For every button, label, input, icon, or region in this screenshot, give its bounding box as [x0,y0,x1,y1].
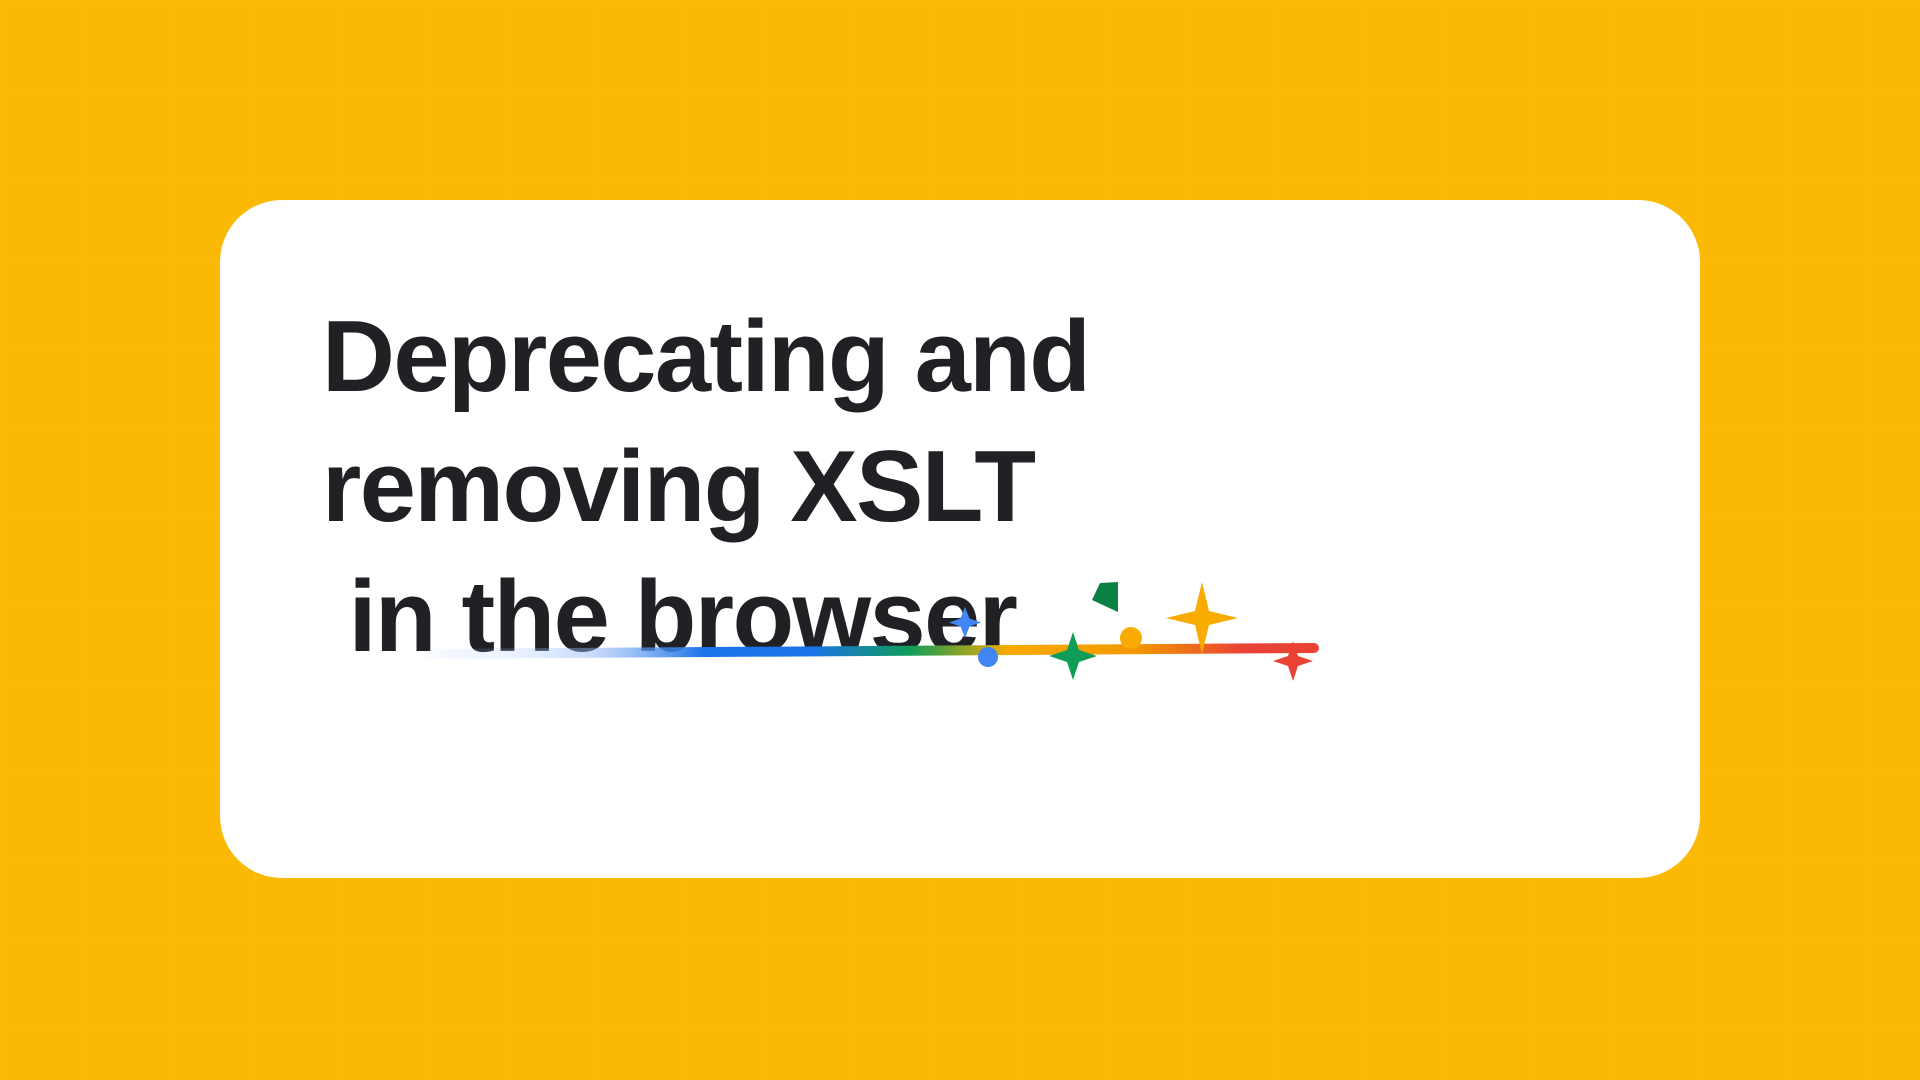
headline-line-3: in the browser [322,552,1642,682]
page-title: Deprecating andremoving XSLT in the brow… [322,292,1642,682]
headline-line-1: Deprecating and [322,292,1642,422]
headline-card: Deprecating andremoving XSLT in the brow… [220,200,1700,878]
headline-line-2: removing XSLT [322,422,1642,552]
page-background: Deprecating andremoving XSLT in the brow… [0,0,1920,1080]
